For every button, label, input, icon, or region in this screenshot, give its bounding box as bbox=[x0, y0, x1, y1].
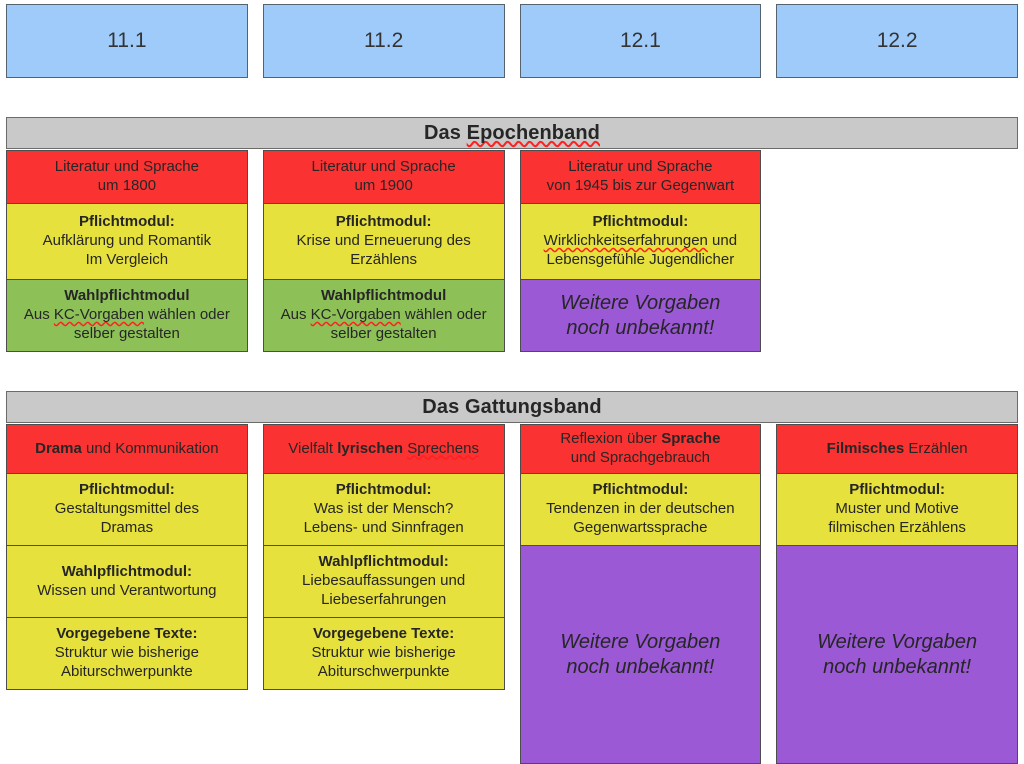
required-module-cell[interactable]: Pflichtmodul: Was ist der Mensch? Lebens… bbox=[263, 473, 505, 546]
topic-cell[interactable]: Vielfalt lyrischen Sprechens bbox=[263, 424, 505, 474]
epochenband-column-11-1: Literatur und Sprache um 1800 Pflichtmod… bbox=[6, 150, 248, 352]
topic-line-2: und Sprachgebrauch bbox=[525, 449, 757, 468]
unknown-line-1: Weitere Vorgaben bbox=[781, 630, 1013, 654]
semester-label: 11.2 bbox=[364, 29, 403, 54]
prescribed-texts-cell[interactable]: Vorgegebene Texte: Struktur wie bisherig… bbox=[6, 617, 248, 690]
topic-line-2: um 1900 bbox=[268, 177, 500, 196]
required-module-line-1: Aufklärung und Romantik bbox=[11, 232, 243, 251]
elective-module-cell[interactable]: Wahlpflichtmodul: Liebesauffassungen und… bbox=[263, 545, 505, 618]
elective-module-cell[interactable]: Wahlpflichtmodul Aus KC-Vorgaben wählen … bbox=[263, 279, 505, 352]
required-module-heading: Pflichtmodul: bbox=[268, 213, 500, 232]
topic-line-1: Literatur und Sprache bbox=[11, 158, 243, 177]
elective-module-line-1: Aus KC-Vorgaben wählen oder bbox=[11, 306, 243, 325]
required-module-line-1: Wirklichkeitserfahrungen und bbox=[525, 232, 757, 251]
elective-module-line-2: selber gestalten bbox=[268, 325, 500, 344]
epochenband-columns: Literatur und Sprache um 1800 Pflichtmod… bbox=[6, 150, 1018, 352]
elective-module-line-1: Wissen und Verantwortung bbox=[11, 582, 243, 601]
required-module-cell[interactable]: Pflichtmodul: Aufklärung und Romantik Im… bbox=[6, 203, 248, 280]
unknown-requirements-cell[interactable]: Weitere Vorgaben noch unbekannt! bbox=[520, 279, 762, 352]
epochenband-column-12-1: Literatur und Sprache von 1945 bis zur G… bbox=[520, 150, 762, 352]
required-module-line-1: Tendenzen in der deutschen bbox=[525, 500, 757, 519]
topic-pre: Vielfalt bbox=[288, 440, 337, 457]
topic-cell[interactable]: Drama und Kommunikation bbox=[6, 424, 248, 474]
required-module-line-2: filmischen Erzählens bbox=[781, 519, 1013, 538]
elective-module-cell[interactable]: Wahlpflichtmodul Aus KC-Vorgaben wählen … bbox=[6, 279, 248, 352]
elective-module-heading: Wahlpflichtmodul: bbox=[11, 563, 243, 582]
topic-line-1: Filmisches Erzählen bbox=[781, 440, 1013, 459]
required-module-line-1: Was ist der Mensch? bbox=[268, 500, 500, 519]
semester-box-11-2[interactable]: 11.2 bbox=[263, 4, 505, 78]
topic-line-1: Reflexion über Sprache bbox=[525, 430, 757, 449]
required-module-heading: Pflichtmodul: bbox=[781, 481, 1013, 500]
required-module-line-2: Lebens- und Sinnfragen bbox=[268, 519, 500, 538]
required-module-cell[interactable]: Pflichtmodul: Muster und Motive filmisch… bbox=[776, 473, 1018, 546]
prescribed-texts-cell[interactable]: Vorgegebene Texte: Struktur wie bisherig… bbox=[263, 617, 505, 690]
epochenband-title: Das Epochenband bbox=[6, 117, 1018, 149]
topic-rest: Erzählen bbox=[904, 440, 967, 457]
spellcheck-word: Wirklichkeitserfahrungen bbox=[544, 232, 708, 249]
elective-module-heading: Wahlpflichtmodul bbox=[268, 287, 500, 306]
prescribed-texts-line-1: Struktur wie bisherige bbox=[11, 644, 243, 663]
gattungsband-column-11-2: Vielfalt lyrischen Sprechens Pflichtmodu… bbox=[263, 424, 505, 690]
topic-rest: und Kommunikation bbox=[82, 440, 219, 457]
required-module-cell[interactable]: Pflichtmodul: Krise und Erneuerung des E… bbox=[263, 203, 505, 280]
required-module-line-2: Im Vergleich bbox=[11, 251, 243, 270]
spellcheck-word: KC-Vorgaben bbox=[311, 306, 401, 323]
elective-module-line-2: Liebeserfahrungen bbox=[268, 591, 500, 610]
topic-line-2: von 1945 bis zur Gegenwart bbox=[525, 177, 757, 196]
topic-line-1: Vielfalt lyrischen Sprechens bbox=[268, 440, 500, 459]
gattungsband-section: Das Gattungsband Drama und Kommunikation… bbox=[6, 391, 1018, 764]
epochenband-section: Das Epochenband Literatur und Sprache um… bbox=[6, 117, 1018, 352]
unknown-requirements-cell[interactable]: Weitere Vorgaben noch unbekannt! bbox=[520, 545, 762, 764]
required-module-cell[interactable]: Pflichtmodul: Wirklichkeitserfahrungen u… bbox=[520, 203, 762, 280]
topic-cell[interactable]: Filmisches Erzählen bbox=[776, 424, 1018, 474]
unknown-line-1: Weitere Vorgaben bbox=[525, 291, 757, 315]
required-module-cell[interactable]: Pflichtmodul: Tendenzen in der deutschen… bbox=[520, 473, 762, 546]
semester-box-11-1[interactable]: 11.1 bbox=[6, 4, 248, 78]
unknown-line-2: noch unbekannt! bbox=[525, 655, 757, 679]
topic-line-1: Drama und Kommunikation bbox=[11, 440, 243, 459]
spellcheck-word: Epochenband bbox=[467, 122, 600, 144]
gattungsband-columns: Drama und Kommunikation Pflichtmodul: Ge… bbox=[6, 424, 1018, 764]
required-module-heading: Pflichtmodul: bbox=[525, 213, 757, 232]
epochenband-column-11-2: Literatur und Sprache um 1900 Pflichtmod… bbox=[263, 150, 505, 352]
prescribed-texts-line-2: Abiturschwerpunkte bbox=[268, 663, 500, 682]
gattungsband-column-11-1: Drama und Kommunikation Pflichtmodul: Ge… bbox=[6, 424, 248, 690]
required-module-line-2: Lebensgefühle Jugendlicher bbox=[525, 251, 757, 270]
epochenband-title-text: Das Epochenband bbox=[424, 122, 600, 145]
semester-box-12-1[interactable]: 12.1 bbox=[520, 4, 762, 78]
elective-module-heading: Wahlpflichtmodul bbox=[11, 287, 243, 306]
required-module-line-1: Muster und Motive bbox=[781, 500, 1013, 519]
unknown-line-1: Weitere Vorgaben bbox=[525, 630, 757, 654]
topic-cell[interactable]: Literatur und Sprache um 1900 bbox=[263, 150, 505, 204]
topic-line-1: Literatur und Sprache bbox=[268, 158, 500, 177]
required-module-heading: Pflichtmodul: bbox=[525, 481, 757, 500]
semester-label: 11.1 bbox=[107, 29, 146, 54]
spellcheck-word: KC-Vorgaben bbox=[54, 306, 144, 323]
semester-label: 12.1 bbox=[620, 29, 661, 54]
topic-pre: Reflexion über bbox=[560, 430, 661, 447]
gattungsband-title-text: Das Gattungsband bbox=[422, 396, 601, 419]
required-module-heading: Pflichtmodul: bbox=[268, 481, 500, 500]
required-module-line-1: Krise und Erneuerung des bbox=[268, 232, 500, 251]
spellcheck-word: Sprechens bbox=[407, 440, 479, 457]
semester-label: 12.2 bbox=[877, 29, 918, 54]
topic-emphasis: Drama bbox=[35, 440, 82, 457]
elective-module-line-2: selber gestalten bbox=[11, 325, 243, 344]
gattungsband-column-12-1: Reflexion über Sprache und Sprachgebrauc… bbox=[520, 424, 762, 764]
gattungsband-column-12-2: Filmisches Erzählen Pflichtmodul: Muster… bbox=[776, 424, 1018, 764]
topic-emphasis: Sprache bbox=[661, 430, 720, 447]
topic-cell[interactable]: Literatur und Sprache von 1945 bis zur G… bbox=[520, 150, 762, 204]
unknown-line-2: noch unbekannt! bbox=[525, 316, 757, 340]
topic-emphasis: Filmisches bbox=[827, 440, 905, 457]
required-module-cell[interactable]: Pflichtmodul: Gestaltungsmittel des Dram… bbox=[6, 473, 248, 546]
topic-emphasis: lyrischen bbox=[337, 440, 403, 457]
topic-line-1: Literatur und Sprache bbox=[525, 158, 757, 177]
prescribed-texts-line-2: Abiturschwerpunkte bbox=[11, 663, 243, 682]
required-module-heading: Pflichtmodul: bbox=[11, 213, 243, 232]
required-module-line-2: Gegenwartssprache bbox=[525, 519, 757, 538]
topic-line-2: um 1800 bbox=[11, 177, 243, 196]
topic-cell[interactable]: Reflexion über Sprache und Sprachgebrauc… bbox=[520, 424, 762, 474]
unknown-requirements-cell[interactable]: Weitere Vorgaben noch unbekannt! bbox=[776, 545, 1018, 764]
semester-box-12-2[interactable]: 12.2 bbox=[776, 4, 1018, 78]
gattungsband-title: Das Gattungsband bbox=[6, 391, 1018, 423]
required-module-heading: Pflichtmodul: bbox=[11, 481, 243, 500]
prescribed-texts-heading: Vorgegebene Texte: bbox=[268, 625, 500, 644]
unknown-line-2: noch unbekannt! bbox=[781, 655, 1013, 679]
elective-module-line-1: Liebesauffassungen und bbox=[268, 572, 500, 591]
prescribed-texts-heading: Vorgegebene Texte: bbox=[11, 625, 243, 644]
elective-module-cell[interactable]: Wahlpflichtmodul: Wissen und Verantwortu… bbox=[6, 545, 248, 618]
semester-header-row: 11.1 11.2 12.1 12.2 bbox=[6, 4, 1018, 78]
required-module-line-1: Gestaltungsmittel des bbox=[11, 500, 243, 519]
prescribed-texts-line-1: Struktur wie bisherige bbox=[268, 644, 500, 663]
elective-module-heading: Wahlpflichtmodul: bbox=[268, 553, 500, 572]
required-module-line-2: Dramas bbox=[11, 519, 243, 538]
topic-cell[interactable]: Literatur und Sprache um 1800 bbox=[6, 150, 248, 204]
required-module-line-2: Erzählens bbox=[268, 251, 500, 270]
elective-module-line-1: Aus KC-Vorgaben wählen oder bbox=[268, 306, 500, 325]
